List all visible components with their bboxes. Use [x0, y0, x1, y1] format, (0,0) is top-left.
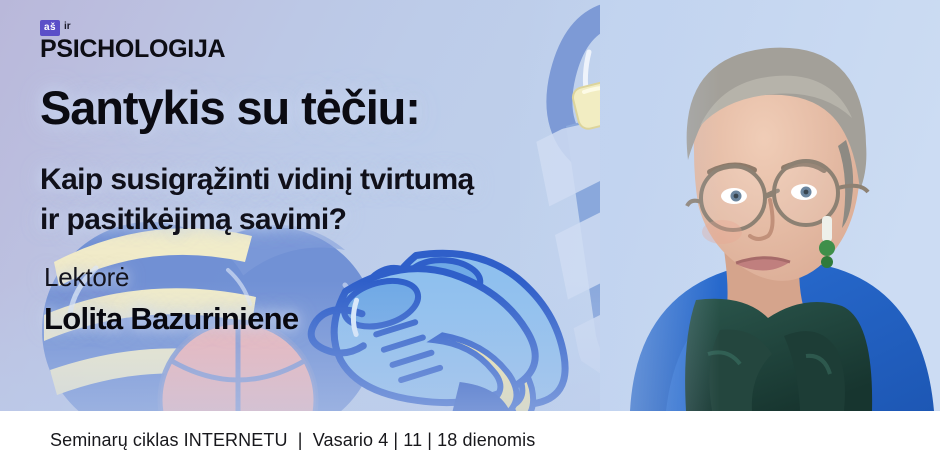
poster-artwork: aš ir PSICHOLOGIJA Santykis su tėčiu: Ka…	[0, 0, 940, 411]
brand-logo-top: aš ir	[40, 20, 71, 35]
brand-logo: aš ir PSICHOLOGIJA	[40, 20, 225, 62]
subtitle-line-1: Kaip susigrąžinti vidinį tvirtumą	[40, 160, 474, 200]
footer-bar: Seminarų ciklas INTERNETU | Vasario 4 | …	[0, 411, 940, 470]
lecturer-name: Lolita Bazuriniene	[44, 302, 298, 336]
brand-badge-as: aš	[40, 20, 60, 36]
lecturer-label: Lektorė	[44, 263, 298, 292]
subtitle-line-2: ir pasitikėjimą savimi?	[40, 200, 474, 240]
page-title: Santykis su tėčiu:	[40, 84, 420, 131]
brand-wordmark: PSICHOLOGIJA	[40, 36, 225, 62]
lecturer-portrait	[600, 0, 940, 411]
lecturer-block: Lektorė Lolita Bazuriniene	[44, 263, 298, 336]
subtitle: Kaip susigrąžinti vidinį tvirtumą ir pas…	[40, 160, 474, 239]
footer-schedule-text: Seminarų ciklas INTERNETU | Vasario 4 | …	[50, 430, 535, 451]
seminar-promo-poster: aš ir PSICHOLOGIJA Santykis su tėčiu: Ka…	[0, 0, 940, 470]
brand-badge-ir: ir	[64, 22, 71, 33]
